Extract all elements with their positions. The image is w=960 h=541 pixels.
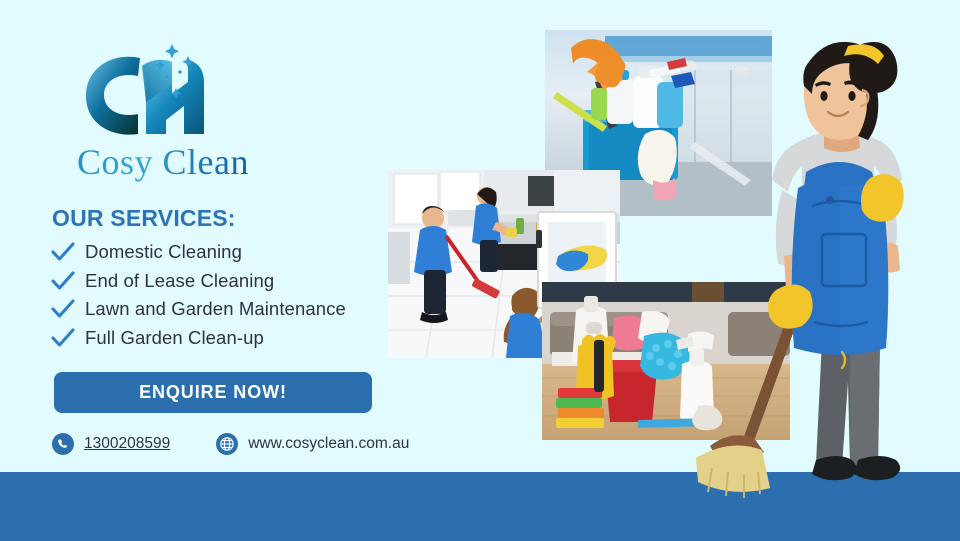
- services-list: Domestic Cleaning End of Lease Cleaning …: [50, 238, 380, 352]
- service-item: Full Garden Clean-up: [50, 324, 380, 353]
- globe-icon: [216, 433, 238, 455]
- service-label: Domestic Cleaning: [85, 241, 242, 263]
- phone-number[interactable]: 1300208599: [84, 435, 170, 453]
- service-label: Full Garden Clean-up: [85, 327, 264, 349]
- service-item: Domestic Cleaning: [50, 238, 380, 267]
- brand-wordmark: Cosy Clean: [48, 140, 278, 184]
- phone-contact[interactable]: 1300208599: [52, 433, 170, 455]
- website-contact[interactable]: www.cosyclean.com.au: [216, 433, 409, 455]
- enquire-now-button[interactable]: ENQUIRE NOW!: [54, 372, 372, 413]
- check-icon: [50, 298, 76, 320]
- services-heading: OUR SERVICES:: [52, 205, 236, 232]
- brand-logo: Cosy Clean: [48, 42, 278, 187]
- contact-bar: 1300208599 www.cosyclean.com.au: [52, 433, 409, 455]
- service-item: End of Lease Cleaning: [50, 267, 380, 296]
- service-label: End of Lease Cleaning: [85, 270, 274, 292]
- advertisement-canvas: Cosy Clean OUR SERVICES: Domestic Cleani…: [0, 0, 960, 541]
- website-url[interactable]: www.cosyclean.com.au: [248, 435, 409, 453]
- phone-icon: [52, 433, 74, 455]
- ch-monogram-icon: [76, 42, 216, 140]
- service-item: Lawn and Garden Maintenance: [50, 295, 380, 324]
- service-label: Lawn and Garden Maintenance: [85, 298, 346, 320]
- cleaner-with-broom: [672, 22, 960, 520]
- check-icon: [50, 327, 76, 349]
- check-icon: [50, 241, 76, 263]
- check-icon: [50, 270, 76, 292]
